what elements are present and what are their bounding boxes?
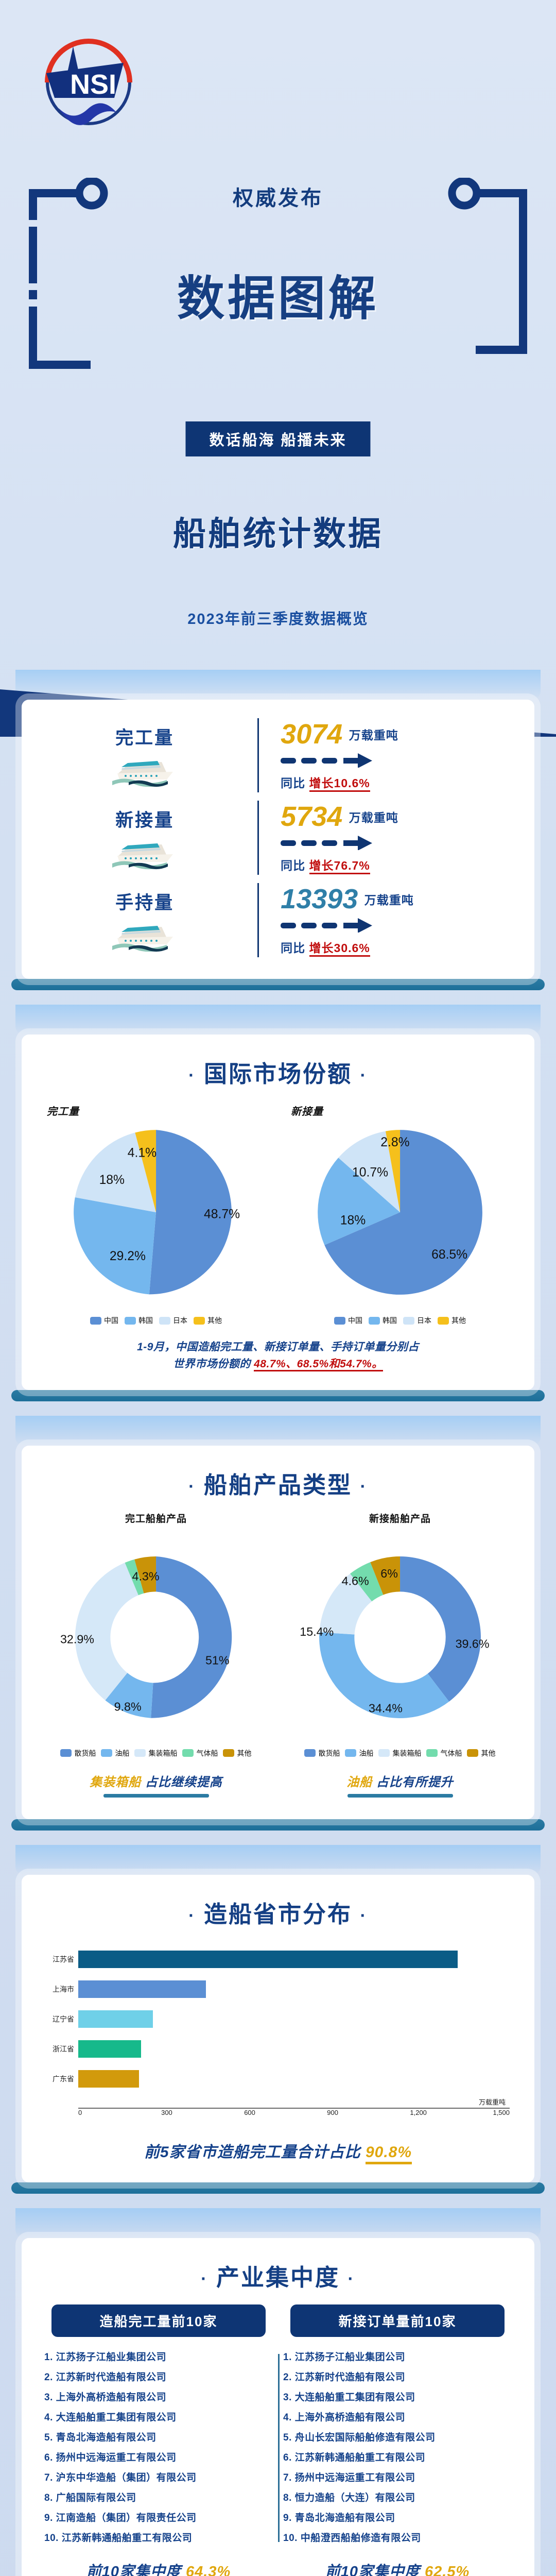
product-type-title: · 船舶产品类型 · [22, 1446, 534, 1509]
legend-item: 韩国 [125, 1315, 153, 1326]
donut-chart-completed: 完工船舶产品 51% [44, 1511, 268, 1758]
legend-swatch-icon [403, 1317, 414, 1325]
kpi-right-1: 5734 万载重吨 同比 增长76.7% [259, 803, 534, 873]
kpi-compare-prefix: 同比 [281, 776, 305, 790]
product-msg-right: 油船 占比有所提升 [278, 1758, 522, 1798]
legend-item: 韩国 [369, 1315, 397, 1326]
legend-item: 其他 [438, 1315, 466, 1326]
msg-gold: 油船 [346, 1775, 372, 1789]
pie-chart-neworders: 新接量 68.5% 18% [288, 1100, 512, 1326]
card-glow-top [15, 1005, 541, 1035]
bar-fill [78, 1951, 458, 1968]
legend-item: 油船 [345, 1748, 373, 1758]
list-item: 8. 广船国际有限公司 [44, 2490, 273, 2504]
x-tick: 0 [78, 2109, 161, 2116]
legend-item: 日本 [159, 1315, 187, 1326]
legend-item: 中国 [90, 1315, 118, 1326]
legend-swatch-icon [438, 1317, 449, 1325]
province-bar-chart: 江苏省 上海市 辽宁省 浙江省 广东省 [22, 1938, 534, 2122]
kpi-left-1: 新接量 [22, 806, 257, 870]
product-type-card: · 船舶产品类型 · 完工船舶产品 [22, 1446, 534, 1819]
list-item: 7. 扬州中远海运重工有限公司 [283, 2470, 512, 2484]
hero-header: NSI 权威发布 数据图解 数话船海 船播未来 船 [0, 0, 556, 670]
note-line-1: 1-9月，中国造船完工量、新接订单量、手持订单量分别占 [137, 1341, 419, 1353]
slogan-banner: 数话船海 船播未来 [185, 421, 370, 456]
dashed-arrow-icon [281, 835, 534, 853]
x-tick: 300 [161, 2109, 244, 2116]
market-share-note: 1-9月，中国造船完工量、新接订单量、手持订单量分别占 世界市场份额的 48.7… [22, 1326, 534, 1390]
bar-track [78, 1980, 510, 1998]
cansi-logo-icon: NSI [37, 31, 140, 134]
list-item: 3. 上海外高桥造船有限公司 [44, 2389, 273, 2403]
bullet-dot-icon: · [201, 2269, 208, 2289]
pie-label-2: 18% [99, 1173, 125, 1187]
bar-row: 广东省 [46, 2067, 510, 2091]
legend-item: 散货船 [60, 1748, 96, 1758]
concentration-left-column: 造船完工量前10家 1. 江苏扬子江船业集团公司 2. 江苏新时代造船有限公司 … [39, 2304, 278, 2550]
concentration-right-column: 新接订单量前10家 1. 江苏扬子江船业集团公司 2. 江苏新时代造船有限公司 … [278, 2304, 517, 2550]
pie-label-0: 68.5% [431, 1248, 467, 1262]
donut-legend-completed: 散货船 油船 集装箱船 气体船 其他 [44, 1748, 268, 1758]
kpi-row: 手持量 13393 万载 [22, 879, 534, 961]
kpi-card: 完工量 3074 万载重 [22, 700, 534, 979]
concentration-title: · 产业集中度 · [22, 2238, 534, 2301]
period-subtitle: 2023年前三季度数据概览 [0, 607, 556, 629]
product-msg-left: 集装箱船 占比继续提高 [34, 1758, 278, 1798]
bar-category-label: 浙江省 [46, 2044, 78, 2054]
bar-fill [78, 2010, 153, 2028]
bar-fill [78, 2070, 139, 2088]
province-card: · 造船省市分布 · 江苏省 上海市 辽宁省 浙江省 [22, 1875, 534, 2182]
msg-gold: 集装箱船 [90, 1775, 141, 1789]
province-title: · 造船省市分布 · [22, 1875, 534, 1938]
kpi-unit: 万载重吨 [349, 725, 398, 743]
kpi-compare-prefix: 同比 [281, 859, 305, 872]
kpi-row: 完工量 3074 万载重 [22, 714, 534, 796]
bar-row: 江苏省 [46, 1947, 510, 1971]
donut-label-4: 4.3% [132, 1570, 159, 1583]
list-item: 5. 青岛北海造船有限公司 [44, 2430, 273, 2444]
legend-swatch-icon [60, 1749, 72, 1757]
pie-caption: 完工量 [47, 1103, 79, 1118]
donut-label-2: 15.4% [300, 1625, 334, 1638]
legend-item: 集装箱船 [134, 1748, 177, 1758]
x-tick: 1,500 [493, 2109, 510, 2116]
donut-label-3: 4.6% [342, 1574, 369, 1587]
legend-swatch-icon [223, 1749, 234, 1757]
donut-label-0: 51% [205, 1653, 230, 1667]
list-item: 10. 中船澄西船舶修造有限公司 [283, 2530, 512, 2544]
legend-item: 集装箱船 [378, 1748, 421, 1758]
bar-category-label: 辽宁省 [46, 2014, 78, 2024]
stat-value: 64.3% [186, 2564, 231, 2576]
card-band-bottom [11, 1390, 545, 1401]
donut-legend-neworders: 散货船 油船 集装箱船 气体船 其他 [288, 1748, 512, 1758]
bullet-dot-icon: · [188, 1477, 196, 1497]
pie-charts-row: 完工量 48.7% 29.2% [22, 1098, 534, 1326]
card-glow-top [15, 2208, 541, 2238]
legend-item: 油船 [101, 1748, 129, 1758]
donut-caption: 完工船舶产品 [44, 1511, 268, 1525]
legend-item: 气体船 [426, 1748, 462, 1758]
note-line-2: 世界市场份额的 [173, 1358, 251, 1370]
title-text: 造船省市分布 [204, 1901, 352, 1927]
concentration-columns: 造船完工量前10家 1. 江苏扬子江船业集团公司 2. 江苏新时代造船有限公司 … [22, 2301, 534, 2550]
note-highlight: 48.7%、68.5%和54.7%。 [254, 1358, 383, 1371]
infographic-page: NSI 权威发布 数据图解 数话船海 船播未来 船 [0, 0, 556, 2576]
kpi-compare-value: 增长30.6% [309, 941, 370, 957]
bar-category-label: 广东省 [46, 2074, 78, 2084]
legend-item: 其他 [194, 1315, 222, 1326]
kpi-compare: 同比 增长10.6% [281, 773, 534, 791]
legend-item: 中国 [334, 1315, 362, 1326]
frame-bottom-left [29, 340, 158, 371]
underline-bar [103, 1794, 209, 1798]
list-item: 7. 沪东中华造船（集团）有限公司 [44, 2470, 273, 2484]
msg-rest: 占比继续提高 [145, 1775, 222, 1789]
kpi-compare: 同比 增长30.6% [281, 938, 534, 956]
left-stat: 前10家集中度 64.3% [39, 2560, 278, 2576]
list-item: 4. 上海外高桥造船有限公司 [283, 2410, 512, 2424]
bar-category-label: 江苏省 [46, 1954, 78, 1964]
left-company-list: 1. 江苏扬子江船业集团公司 2. 江苏新时代造船有限公司 3. 上海外高桥造船… [44, 2349, 273, 2544]
legend-swatch-icon [304, 1749, 316, 1757]
axis-unit-label: 万载重吨 [46, 2097, 510, 2107]
kpi-left-0: 完工量 [22, 723, 257, 788]
card-band-bottom [11, 979, 545, 990]
card-glow-top [15, 1416, 541, 1446]
x-tick: 1,200 [410, 2109, 493, 2116]
kpi-value: 5734 [281, 803, 342, 831]
kpi-label: 手持量 [32, 888, 257, 914]
legend-swatch-icon [134, 1749, 146, 1757]
bullet-dot-icon: · [360, 1066, 368, 1086]
legend-swatch-icon [182, 1749, 194, 1757]
bar-fill [78, 2040, 141, 2058]
bar-category-label: 上海市 [46, 1984, 78, 1994]
list-item: 9. 江南造船（集团）有限责任公司 [44, 2510, 273, 2524]
pie-legend-neworders: 中国 韩国 日本 其他 [288, 1315, 512, 1326]
kpi-unit: 万载重吨 [364, 890, 414, 908]
legend-item: 日本 [403, 1315, 431, 1326]
stat-value: 62.5% [425, 2564, 470, 2576]
bar-row: 辽宁省 [46, 2007, 510, 2031]
kpi-compare-value: 增长10.6% [309, 776, 370, 792]
donut-label-1: 9.8% [114, 1700, 142, 1714]
bar-row: 上海市 [46, 1977, 510, 2001]
kpi-compare: 同比 增长76.7% [281, 856, 534, 873]
list-item: 8. 恒力造船（大连）有限公司 [283, 2490, 512, 2504]
kpi-left-2: 手持量 [22, 888, 257, 953]
concentration-stats: 前10家集中度 64.3% 前10家集中度 62.5% [22, 2550, 534, 2576]
dashed-arrow-icon [281, 752, 534, 770]
pie-caption: 新接量 [291, 1103, 323, 1118]
title-text: 国际市场份额 [204, 1061, 352, 1087]
kpi-value: 13393 [281, 885, 358, 913]
underline-bar [347, 1794, 453, 1798]
bar-track [78, 1951, 510, 1968]
bar-track [78, 2010, 510, 2028]
card-band-bottom [11, 1819, 545, 1831]
card-band-bottom [11, 2182, 545, 2194]
pie-legend-completed: 中国 韩国 日本 其他 [44, 1315, 268, 1326]
kpi-row: 新接量 5734 万载重 [22, 796, 534, 879]
right-column-header: 新接订单量前10家 [290, 2304, 505, 2337]
legend-swatch-icon [194, 1317, 205, 1325]
legend-swatch-icon [378, 1749, 390, 1757]
msg-rest: 占比有所提升 [376, 1775, 454, 1789]
list-item: 1. 江苏扬子江船业集团公司 [44, 2349, 273, 2363]
bullet-dot-icon: · [188, 1066, 196, 1086]
legend-swatch-icon [369, 1317, 380, 1325]
donut-chart-neworders: 新接船舶产品 39.6% [288, 1511, 512, 1758]
pie-label-0: 48.7% [204, 1208, 240, 1222]
ship-illustration-icon [106, 835, 183, 870]
concentration-card: · 产业集中度 · 造船完工量前10家 1. 江苏扬子江船业集团公司 2. 江苏… [22, 2238, 534, 2576]
list-item: 9. 青岛北海造船有限公司 [283, 2510, 512, 2524]
donut-svg-completed: 51% 9.8% 32.9% 4.3% [44, 1525, 268, 1742]
kpi-compare-value: 增长76.7% [309, 859, 370, 874]
pie-chart-completed: 完工量 48.7% 29.2% [44, 1100, 268, 1326]
legend-swatch-icon [101, 1749, 112, 1757]
list-item: 2. 江苏新时代造船有限公司 [283, 2369, 512, 2383]
legend-swatch-icon [345, 1749, 356, 1757]
stat-text: 前10家集中度 [325, 2564, 420, 2576]
ship-illustration-icon [106, 918, 183, 953]
right-company-list: 1. 江苏扬子江船业集团公司 2. 江苏新时代造船有限公司 3. 大连船舶重工集… [283, 2349, 512, 2544]
list-item: 5. 舟山长宏国际船舶修造有限公司 [283, 2430, 512, 2444]
right-stat: 前10家集中度 62.5% [278, 2560, 517, 2576]
ship-illustration-icon [106, 753, 183, 788]
card-glow-top [15, 1845, 541, 1875]
province-stat: 前5家省市造船完工量合计占比 90.8% [22, 2122, 534, 2182]
x-axis-ticks: 0 300 600 900 1,200 1,500 [78, 2109, 510, 2116]
bullet-dot-icon: · [188, 1906, 196, 1925]
kpi-value: 3074 [281, 720, 342, 748]
kpi-label: 新接量 [32, 806, 257, 832]
title-text: 船舶产品类型 [204, 1472, 352, 1498]
bullet-dot-icon: · [360, 1906, 368, 1925]
pie-label-1: 29.2% [110, 1249, 146, 1263]
column-divider [278, 2354, 280, 2542]
pie-svg-neworders: 68.5% 18% 10.7% 2.8% [288, 1100, 512, 1310]
kpi-compare-prefix: 同比 [281, 941, 305, 955]
donut-svg-neworders: 39.6% 34.4% 15.4% 4.6% 6% [288, 1525, 512, 1742]
donut-label-1: 34.4% [369, 1701, 403, 1715]
legend-swatch-icon [467, 1749, 478, 1757]
left-column-header: 造船完工量前10家 [51, 2304, 266, 2337]
list-item: 2. 江苏新时代造船有限公司 [44, 2369, 273, 2383]
kpi-unit: 万载重吨 [349, 808, 398, 825]
pie-label-3: 4.1% [128, 1146, 157, 1160]
legend-swatch-icon [125, 1317, 136, 1325]
donut-label-4: 6% [380, 1567, 398, 1580]
pie-label-3: 2.8% [380, 1136, 409, 1149]
donut-caption: 新接船舶产品 [288, 1511, 512, 1525]
list-item: 3. 大连船舶重工集团有限公司 [283, 2389, 512, 2403]
kpi-label: 完工量 [32, 723, 257, 750]
dashed-arrow-icon [281, 917, 534, 935]
kpi-right-0: 3074 万载重吨 同比 增长10.6% [259, 720, 534, 791]
legend-item: 气体船 [182, 1748, 218, 1758]
pie-label-2: 10.7% [352, 1165, 388, 1179]
page-title: 数据图解 [0, 260, 556, 329]
list-item: 6. 扬州中远海运重工有限公司 [44, 2450, 273, 2464]
donut-label-0: 39.6% [456, 1637, 490, 1650]
bullet-dot-icon: · [348, 2269, 355, 2289]
bar-track [78, 2070, 510, 2088]
legend-item: 散货船 [304, 1748, 340, 1758]
list-item: 10. 江苏新韩通船舶重工有限公司 [44, 2530, 273, 2544]
kpi-right-2: 13393 万载重吨 同比 增长30.6% [259, 885, 534, 956]
donut-label-2: 32.9% [60, 1633, 94, 1646]
market-share-card: · 国际市场份额 · 完工量 [22, 1035, 534, 1390]
legend-swatch-icon [426, 1749, 438, 1757]
bar-track [78, 2040, 510, 2058]
market-share-title: · 国际市场份额 · [22, 1035, 534, 1098]
legend-swatch-icon [90, 1317, 101, 1325]
stat-text: 前5家省市造船完工量合计占比 [144, 2144, 361, 2161]
pie-svg-completed: 48.7% 29.2% 18% 4.1% [44, 1100, 268, 1310]
authority-badge: 权威发布 [0, 181, 556, 211]
title-text: 产业集中度 [216, 2264, 340, 2291]
list-item: 1. 江苏扬子江船业集团公司 [283, 2349, 512, 2363]
bar-fill [78, 1980, 206, 1998]
legend-swatch-icon [159, 1317, 170, 1325]
bar-row: 浙江省 [46, 2037, 510, 2061]
list-item: 6. 江苏新韩通船舶重工有限公司 [283, 2450, 512, 2464]
bullet-dot-icon: · [360, 1477, 368, 1497]
stat-value: 90.8% [366, 2144, 412, 2164]
x-tick: 900 [327, 2109, 410, 2116]
list-item: 4. 大连船舶重工集团有限公司 [44, 2410, 273, 2424]
legend-swatch-icon [334, 1317, 345, 1325]
legend-item: 其他 [467, 1748, 495, 1758]
legend-item: 其他 [223, 1748, 251, 1758]
pie-label-1: 18% [340, 1213, 366, 1227]
x-tick: 600 [244, 2109, 327, 2116]
svg-text:NSI: NSI [70, 69, 116, 100]
donut-charts-row: 完工船舶产品 51% [22, 1509, 534, 1758]
stat-text: 前10家集中度 [86, 2564, 181, 2576]
section-subtitle: 船舶统计数据 [0, 507, 556, 555]
